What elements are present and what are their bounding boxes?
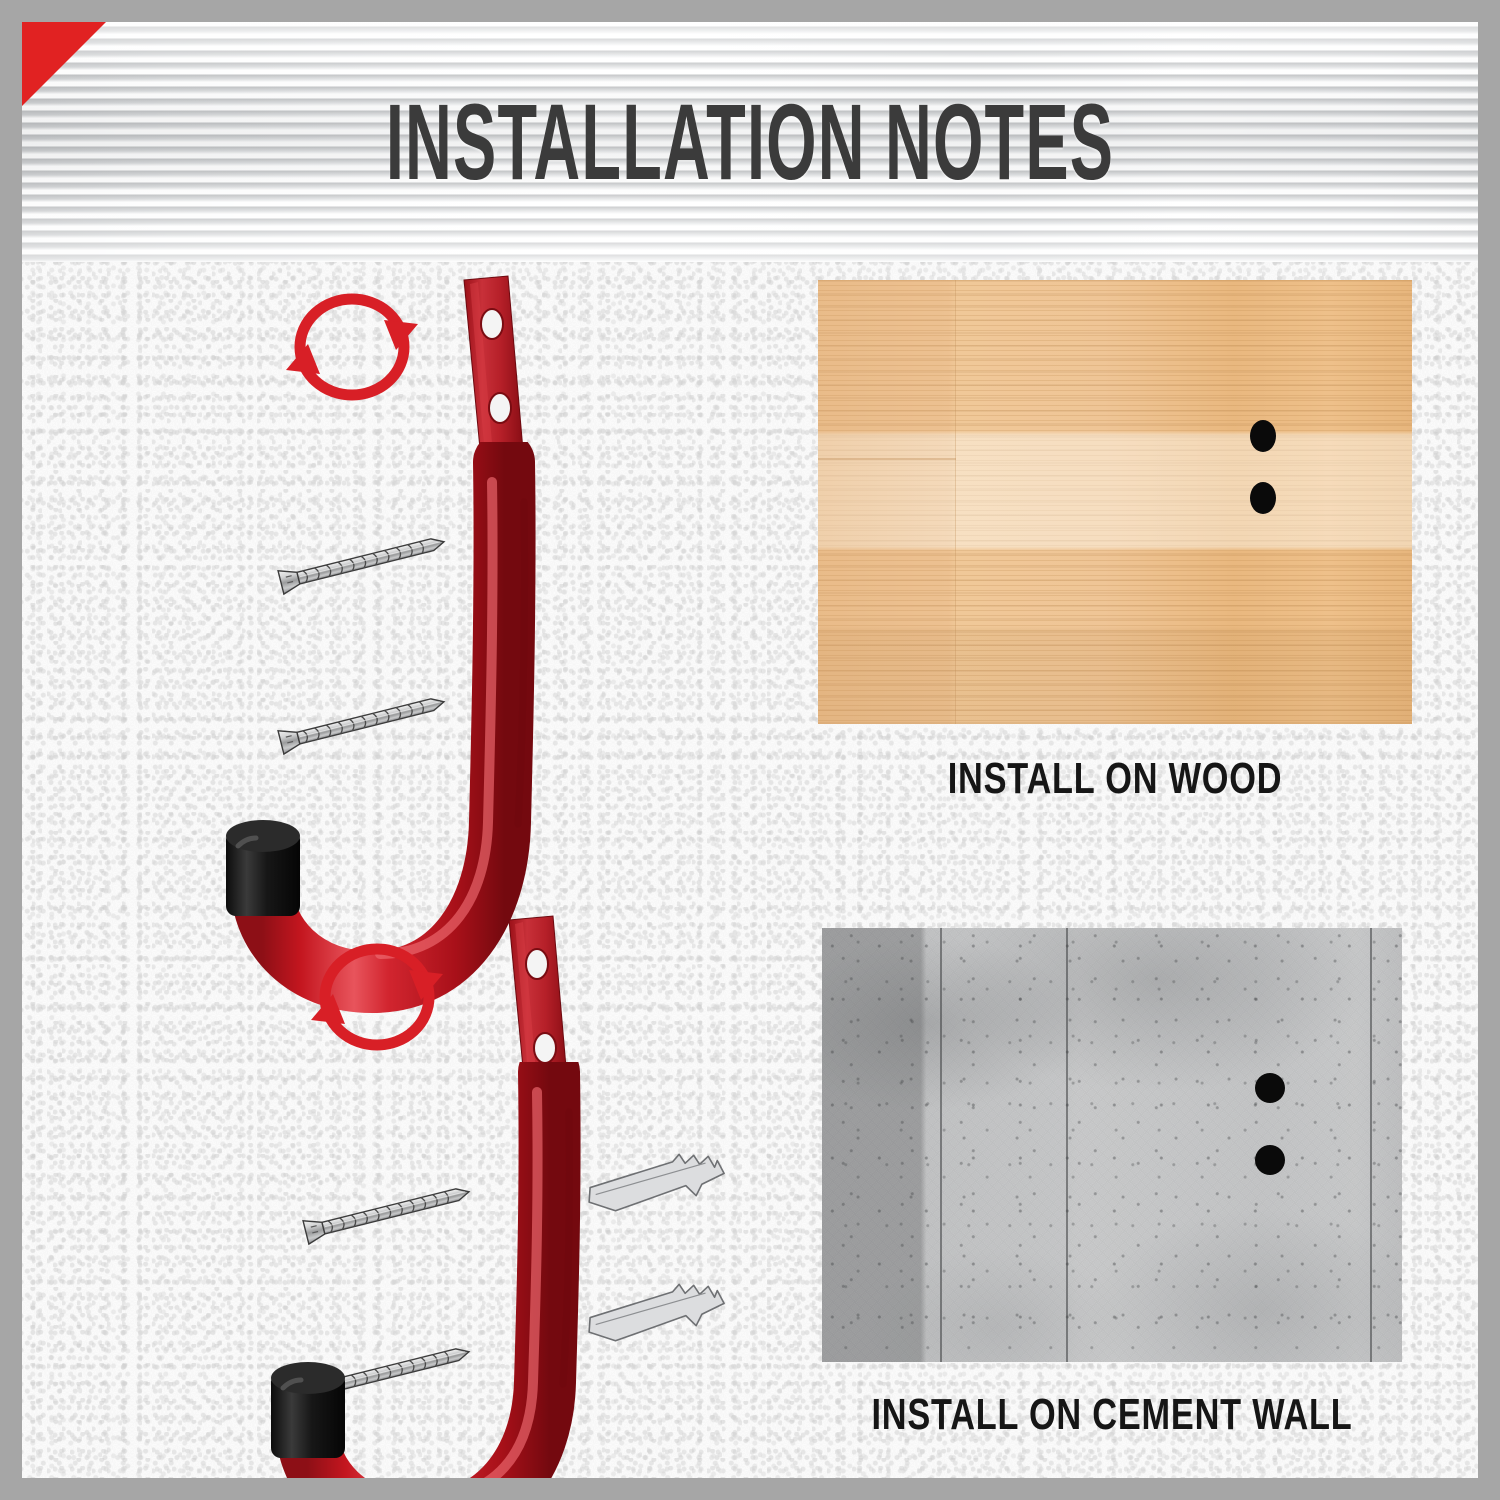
drill-hole-icon (1255, 1073, 1285, 1103)
drill-hole-icon (1250, 482, 1276, 514)
content-area: INSTALL ON WOOD INSTALL ON CEMENT WALL (22, 262, 1478, 1478)
tip-cap-icon (271, 1362, 345, 1458)
rotation-arrow-icon (311, 949, 443, 1045)
mounting-hole-icon (526, 949, 548, 979)
mounting-plate (464, 276, 524, 470)
drill-hole-icon (1250, 420, 1276, 452)
cement-seam-line (1370, 928, 1372, 1362)
corner-flag-icon (22, 22, 106, 106)
poster-root: INSTALLATION NOTES INSTALL ON WOOD INSTA… (0, 0, 1500, 1500)
header-banner: INSTALLATION NOTES (22, 22, 1478, 262)
wood-seam (818, 280, 956, 724)
wood-panel (818, 280, 1412, 724)
rotation-arrow-icon (286, 299, 418, 395)
cement-panel (822, 928, 1402, 1362)
cement-speckle (822, 928, 1402, 1362)
wood-caption: INSTALL ON WOOD (883, 754, 1346, 804)
wood-seam-line (818, 458, 956, 460)
cement-seam-line (1066, 928, 1068, 1362)
page-title: INSTALLATION NOTES (313, 88, 1187, 196)
cement-seam-line (940, 928, 942, 1362)
mounting-hole-icon (534, 1033, 556, 1063)
drill-hole-icon (1255, 1145, 1285, 1175)
cement-caption: INSTALL ON CEMENT WALL (862, 1390, 1361, 1440)
mounting-hole-icon (489, 393, 511, 423)
mounting-hole-icon (481, 309, 503, 339)
j-hook-icon (177, 1062, 737, 1478)
